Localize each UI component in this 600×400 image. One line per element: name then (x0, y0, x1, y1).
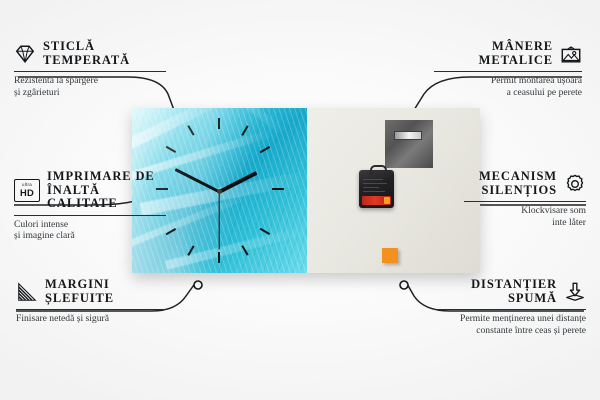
feature-subtitle-line1: Culori intense (14, 219, 166, 231)
feature-title-line2: SILENȚIOS (479, 184, 557, 198)
feature-title-line1: MARGINI (45, 278, 114, 292)
feature-title-line1: DISTANȚIER (471, 278, 557, 292)
feature-title-line1: MÂNERE (479, 40, 553, 54)
battery-terminal (384, 197, 390, 204)
feature-title-line2: METALICE (479, 54, 553, 68)
feature-header: MECANISM SILENȚIOS (464, 170, 586, 197)
feature-subtitle-line2: și zgârieturi (14, 87, 166, 99)
infographic-stage: STICLĂ TEMPERATĂ Rezistentă la spargere … (0, 0, 600, 400)
feature-title-line1: IMPRIMARE DE (47, 170, 166, 184)
feature-hd-print: ultra HD IMPRIMARE DE ÎNALTĂ CALITATE Cu… (14, 170, 166, 242)
feature-subtitle-line1: Finisare netedă și sigură (16, 313, 166, 325)
feature-divider (434, 71, 582, 72)
feature-header: DISTANȚIER SPUMĂ (434, 278, 586, 305)
feature-metal-hangers: MÂNERE METALICE Permit montarea ușoară a… (434, 40, 582, 98)
feature-subtitle-line1: Permit montarea ușoară (434, 75, 582, 87)
marker-polished-edges (194, 281, 202, 289)
clock-tick (241, 125, 248, 135)
ultra-hd-main-text: HD (20, 188, 34, 197)
feature-tempered-glass: STICLĂ TEMPERATĂ Rezistentă la spargere … (14, 40, 166, 98)
feature-subtitle-line2: și imagine clară (14, 230, 166, 242)
feature-divider (464, 201, 586, 202)
feature-title-line2: ÎNALTĂ CALITATE (47, 184, 166, 211)
feature-header: MARGINI ȘLEFUITE (16, 278, 166, 305)
metal-hanger-bracket (385, 120, 433, 168)
feature-title-line1: MECANISM (479, 170, 557, 184)
feature-title-line1: STICLĂ (43, 40, 130, 54)
feature-subtitle-line2: inte låter (464, 217, 586, 229)
feature-divider (16, 309, 166, 310)
bevel-edge-icon (16, 281, 38, 303)
feature-title-line2: TEMPERATĂ (43, 54, 130, 68)
feature-divider (434, 309, 586, 310)
feature-subtitle-line1: Permite menținerea unei distanțe (434, 313, 586, 325)
gear-icon (564, 173, 586, 195)
clock-tick (260, 228, 270, 235)
feature-header: STICLĂ TEMPERATĂ (14, 40, 166, 67)
diamond-icon (14, 43, 36, 65)
clock-tick (218, 118, 220, 129)
picture-frame-icon (560, 43, 582, 65)
feature-divider (14, 71, 166, 72)
feature-subtitle-line2: a ceasului pe perete (434, 87, 582, 99)
feature-polished-edges: MARGINI ȘLEFUITE Finisare netedă și sigu… (16, 278, 166, 325)
clock-tick (187, 125, 194, 135)
feature-divider (14, 215, 166, 216)
hanger-slot (394, 131, 422, 140)
clock-movement (359, 170, 394, 208)
feature-header: MÂNERE METALICE (434, 40, 582, 67)
clock-second-hand (218, 192, 219, 250)
clock-back-panel (307, 108, 480, 273)
movement-hook (370, 165, 387, 175)
feature-title-line2: SPUMĂ (471, 292, 557, 306)
feature-foam-spacer: DISTANȚIER SPUMĂ Permite menținerea unei… (434, 278, 586, 336)
foam-spacer-pad (382, 248, 398, 263)
ultra-hd-icon: ultra HD (14, 179, 40, 202)
clock-center-hub (217, 189, 222, 194)
clock-minute-hand (175, 168, 220, 193)
clock-tick (260, 146, 270, 153)
clock-battery (362, 196, 391, 205)
feature-title-line2: ȘLEFUITE (45, 292, 114, 306)
clock-tick (218, 252, 220, 263)
down-arrow-pad-icon (564, 281, 586, 303)
feature-subtitle-line2: constante între ceas și perete (434, 325, 586, 337)
feature-header: ultra HD IMPRIMARE DE ÎNALTĂ CALITATE (14, 170, 166, 211)
feature-subtitle-line1: Klockvisare som (464, 205, 586, 217)
product-photo (132, 108, 480, 273)
marker-foam-spacer (400, 281, 408, 289)
clock-tick (272, 188, 284, 190)
feature-silent-movement: MECANISM SILENȚIOS Klockvisare som inte … (464, 170, 586, 228)
feature-subtitle-line1: Rezistentă la spargere (14, 75, 166, 87)
clock-tick (166, 146, 176, 153)
